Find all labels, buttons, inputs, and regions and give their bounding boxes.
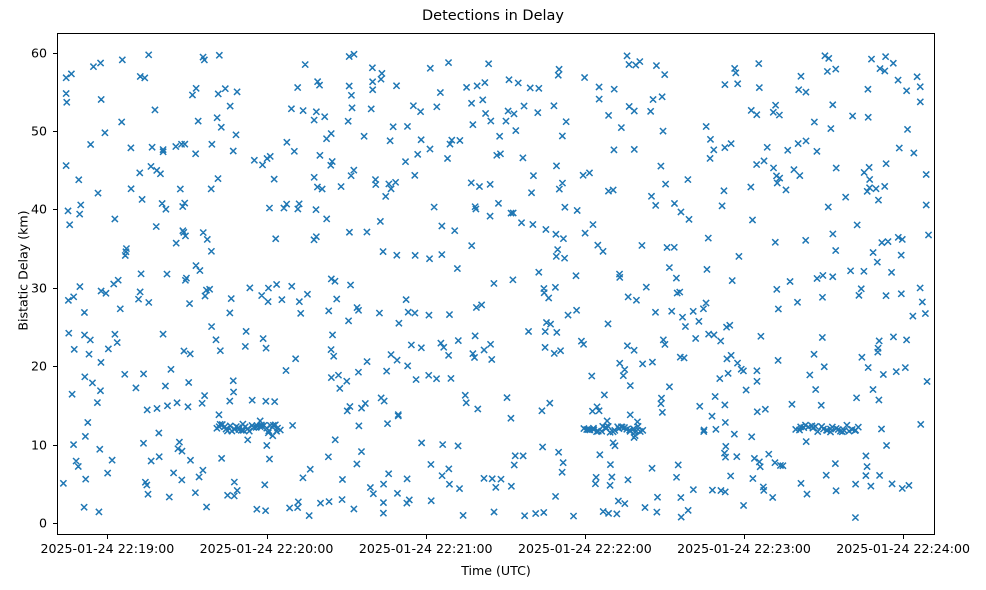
y-tick-mark — [53, 523, 57, 524]
y-tick-label: 10 — [0, 437, 47, 452]
x-tick-mark — [903, 535, 904, 539]
x-axis-label: Time (UTC) — [57, 563, 935, 578]
x-tick-label: 2025-01-24 22:23:00 — [677, 541, 811, 556]
x-tick-mark — [267, 535, 268, 539]
plot-axes — [57, 33, 935, 535]
x-tick-label: 2025-01-24 22:19:00 — [41, 541, 175, 556]
y-tick-label: 50 — [0, 124, 47, 139]
y-tick-label: 0 — [0, 516, 47, 531]
x-tick-mark — [107, 535, 108, 539]
x-tick-mark — [744, 535, 745, 539]
scatter-series — [58, 34, 934, 534]
scatter-markers — [60, 51, 931, 520]
y-tick-mark — [53, 131, 57, 132]
y-tick-mark — [53, 53, 57, 54]
y-tick-mark — [53, 445, 57, 446]
y-axis-label: Bistatic Delay (km) — [16, 141, 31, 401]
figure-canvas: Detections in Delay 2025-01-24 22:19:002… — [0, 0, 986, 590]
x-tick-mark — [426, 535, 427, 539]
y-tick-mark — [53, 288, 57, 289]
y-tick-label: 60 — [0, 45, 47, 60]
x-tick-label: 2025-01-24 22:21:00 — [359, 541, 493, 556]
x-tick-label: 2025-01-24 22:20:00 — [200, 541, 334, 556]
x-tick-label: 2025-01-24 22:24:00 — [836, 541, 970, 556]
page-title: Detections in Delay — [0, 8, 986, 24]
y-tick-mark — [53, 209, 57, 210]
x-tick-label: 2025-01-24 22:22:00 — [518, 541, 652, 556]
y-tick-mark — [53, 366, 57, 367]
x-tick-mark — [585, 535, 586, 539]
